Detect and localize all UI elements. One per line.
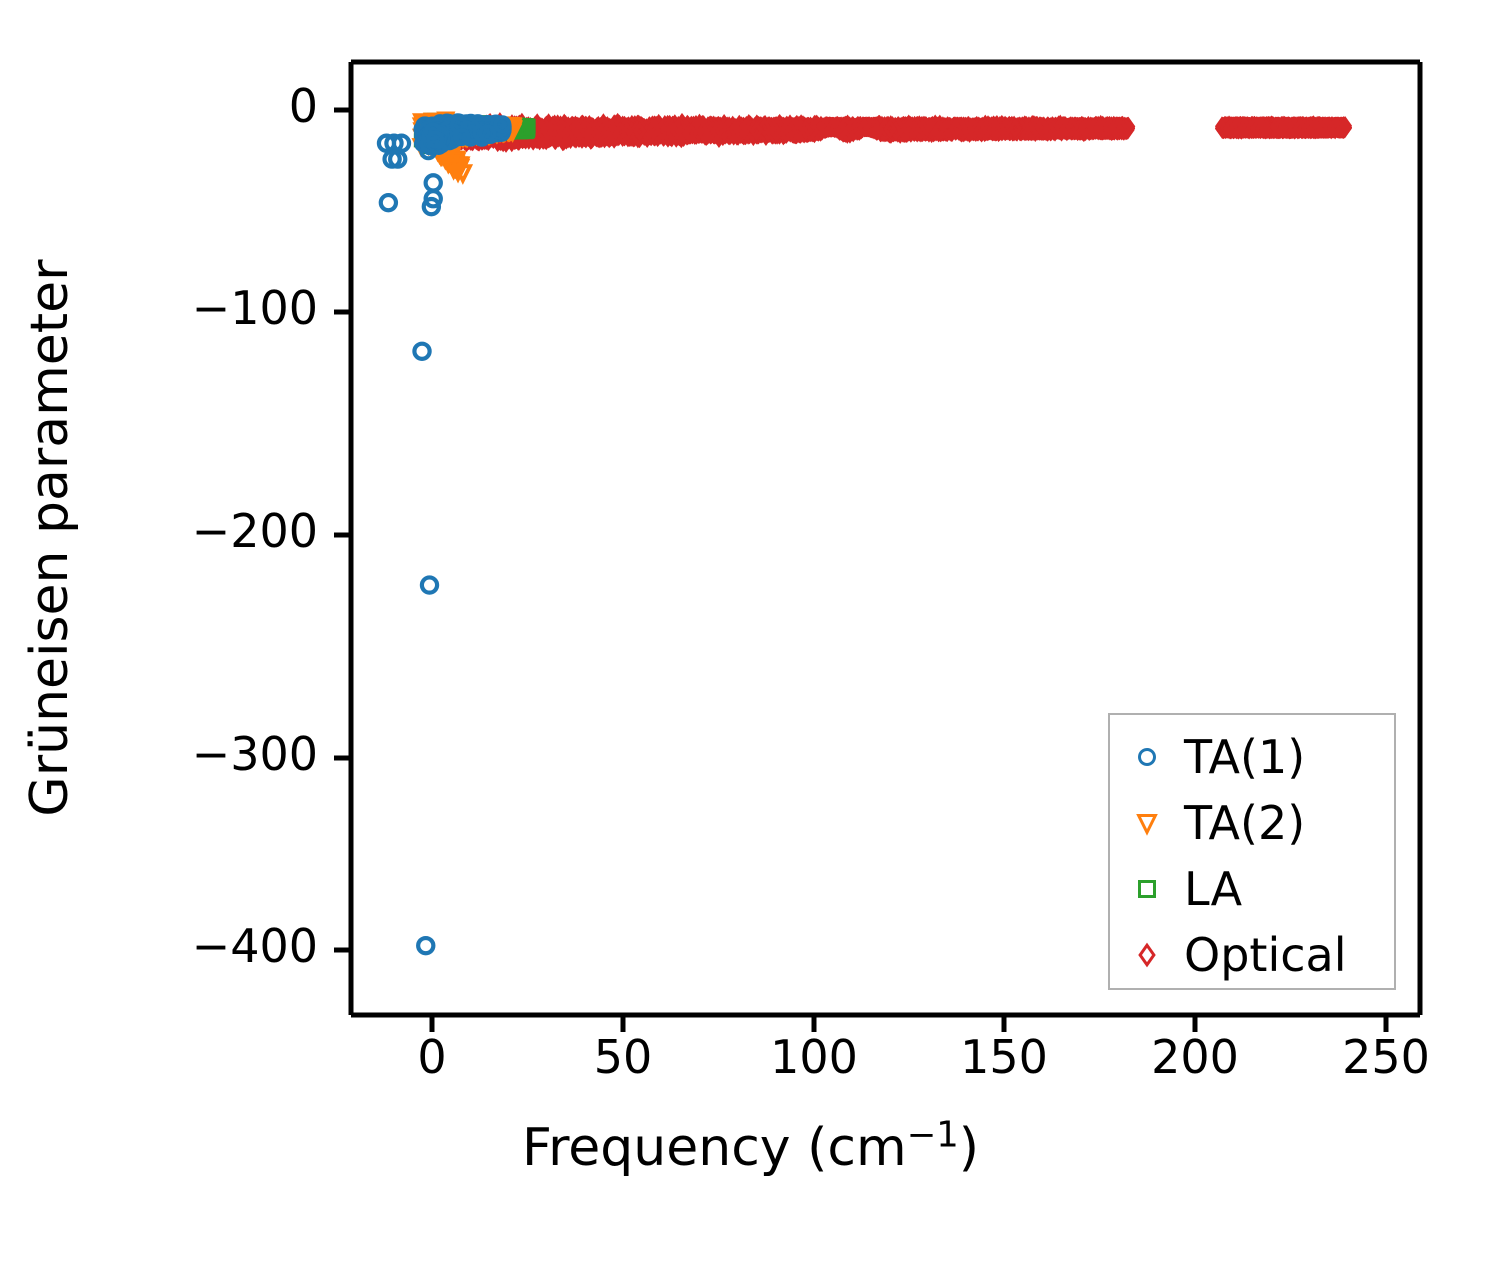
x-tick-label-2: 100 <box>734 1030 894 1084</box>
legend-item-optical[interactable]: Optical <box>1110 923 1398 987</box>
x-axis-label-tail: ) <box>959 1118 979 1178</box>
legend-item-la[interactable]: LA <box>1110 857 1398 921</box>
x-tick-label-5: 250 <box>1306 1030 1466 1084</box>
legend-label: LA <box>1184 862 1242 916</box>
legend-label: TA(1) <box>1184 730 1305 784</box>
x-tick-label-3: 150 <box>924 1030 1084 1084</box>
x-tick-label-1: 50 <box>543 1030 703 1084</box>
legend-label: Optical <box>1184 928 1346 982</box>
square-icon <box>1110 874 1184 904</box>
x-axis-label-base: Frequency (cm <box>522 1118 907 1178</box>
x-axis-label-exponent: −1 <box>907 1115 959 1156</box>
triangle_down-icon <box>1110 808 1184 838</box>
legend-label: TA(2) <box>1184 796 1305 850</box>
diamond-icon <box>1110 940 1184 970</box>
y-axis-label: Grüneisen parameter <box>20 0 80 1118</box>
circle-icon <box>1110 742 1184 772</box>
x-tick-label-0: 0 <box>352 1030 512 1084</box>
x-axis-label: Frequency (cm−1) <box>0 1118 1501 1178</box>
legend-item-ta1[interactable]: TA(1) <box>1110 725 1398 789</box>
figure-canvas: 0−100−200−300−400 050100150200250 Freque… <box>0 0 1501 1264</box>
legend-item-ta2[interactable]: TA(2) <box>1110 791 1398 855</box>
legend-box[interactable]: TA(1)TA(2)LAOptical <box>1108 713 1396 990</box>
x-tick-label-4: 200 <box>1115 1030 1275 1084</box>
